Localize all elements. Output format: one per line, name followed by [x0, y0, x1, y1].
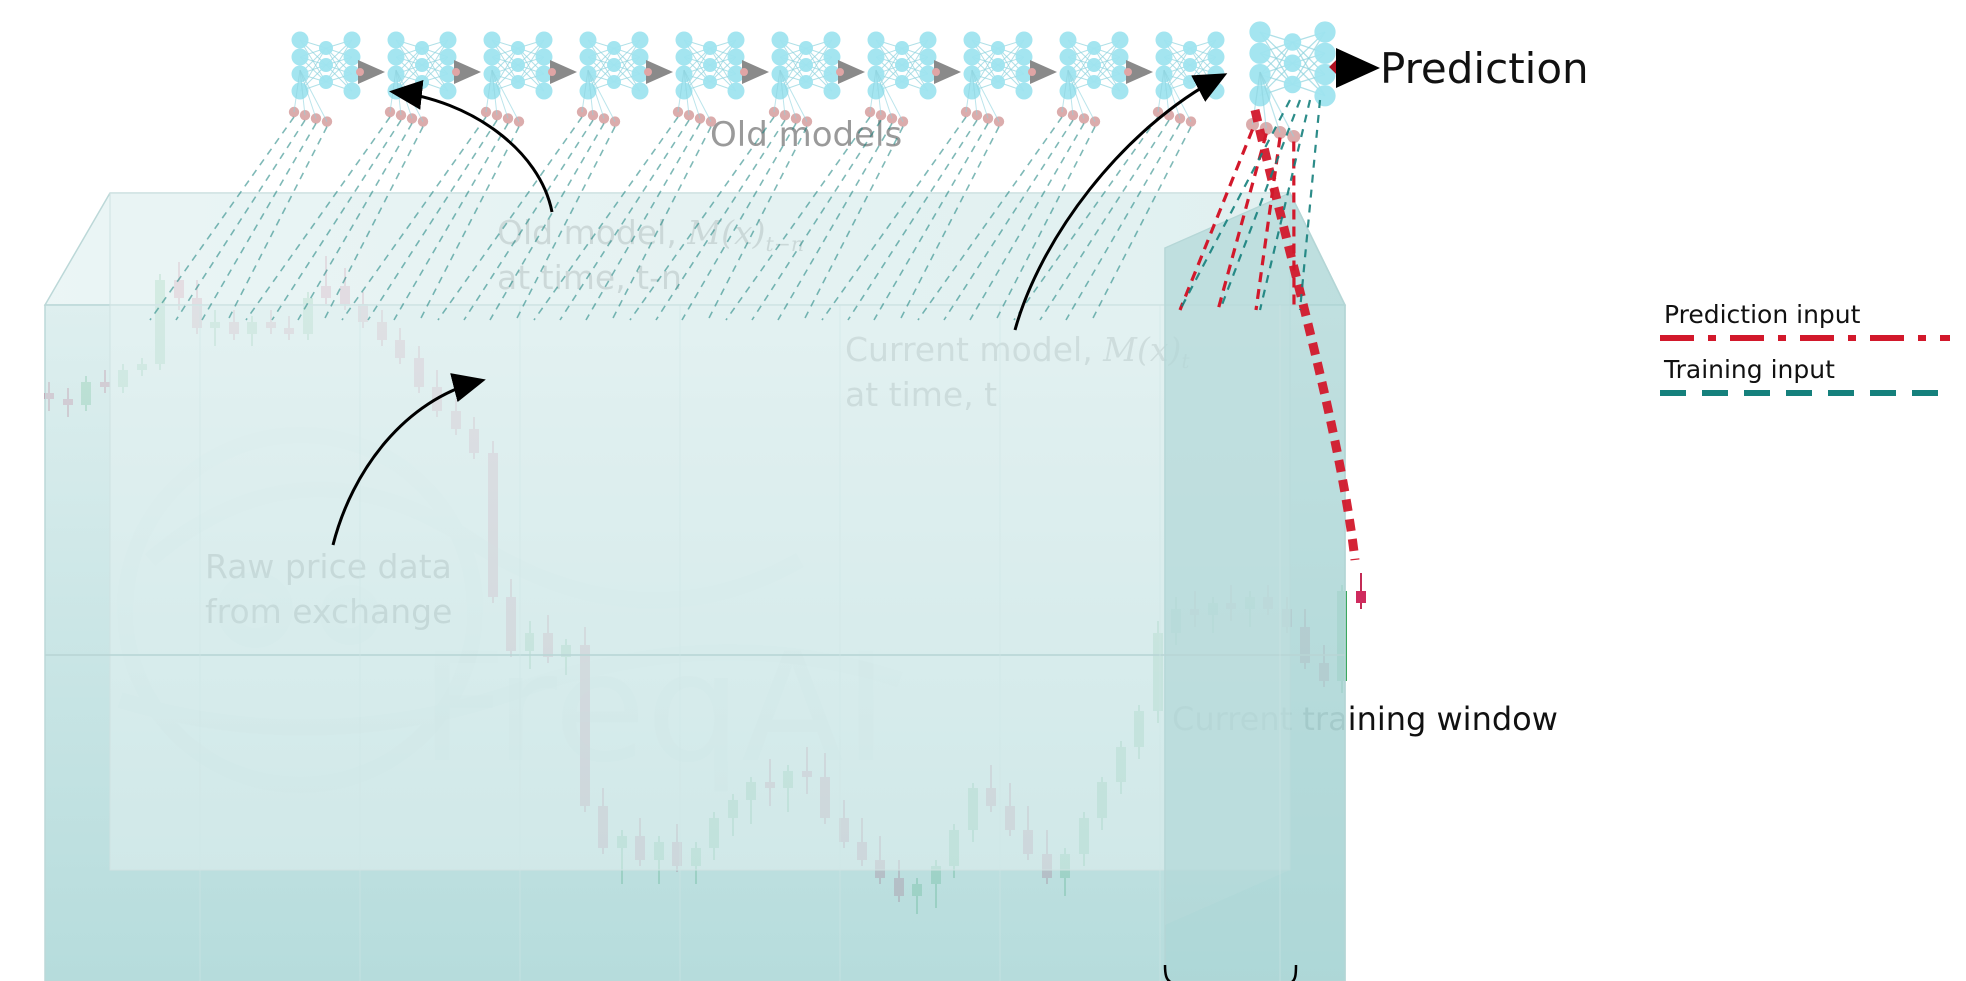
annotation-leaders: [0, 0, 1966, 981]
diagram-canvas: FreqAI: [0, 0, 1966, 981]
